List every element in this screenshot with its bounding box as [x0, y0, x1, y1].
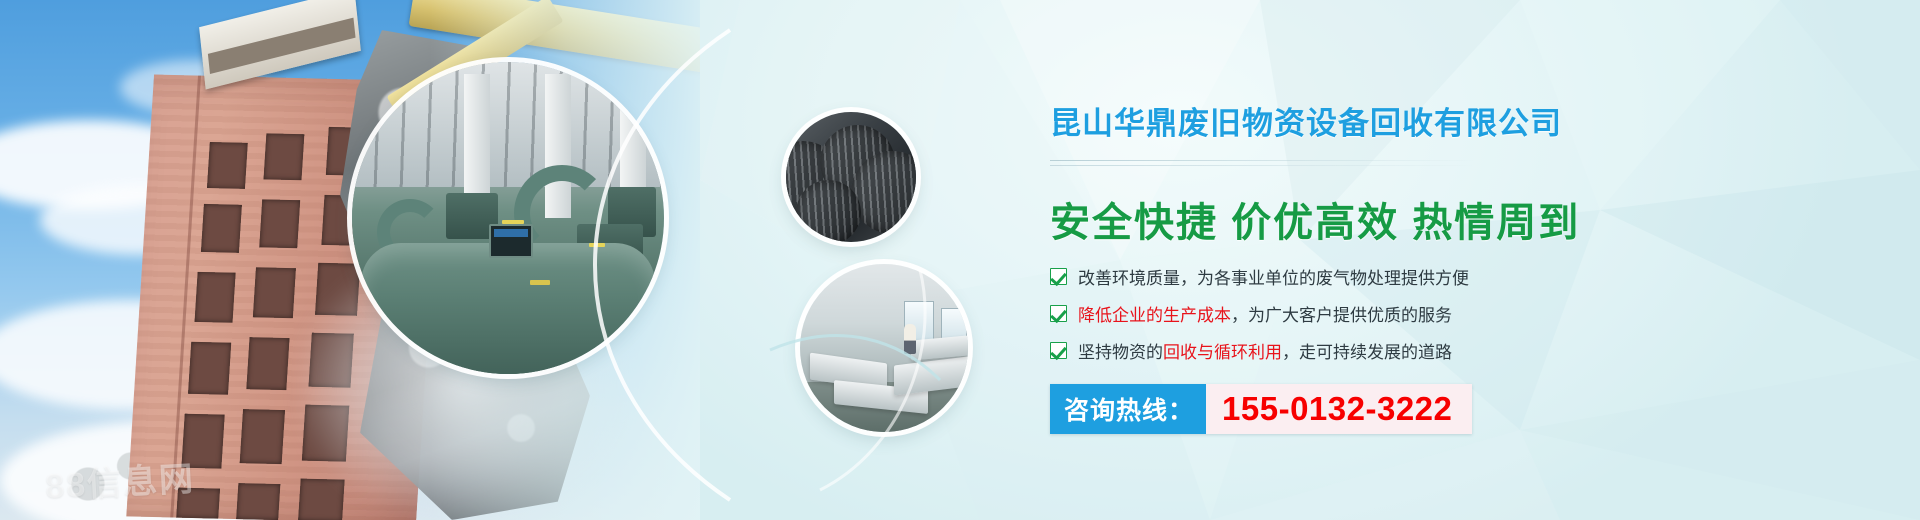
list-item: 降低企业的生产成本 ，为广大客户提供优质的服务 [1050, 295, 1610, 332]
bullet-text: 改善环境质量，为各事业单位的废气物处理提供方便 [1078, 264, 1469, 289]
feature-list: 改善环境质量，为各事业单位的废气物处理提供方便 降低企业的生产成本 ，为广大客户… [1050, 258, 1610, 369]
list-item: 改善环境质量，为各事业单位的废气物处理提供方便 [1050, 258, 1610, 295]
bullet-text: 坚持物资的 [1078, 338, 1163, 363]
factory-ceiling [352, 62, 664, 187]
label-strip [530, 280, 550, 285]
promo-banner: 88信息网 [0, 0, 1920, 520]
bullet-suffix: ，走可持续发展的道路 [1282, 338, 1452, 363]
hotline-label: 咨询热线： [1050, 384, 1206, 434]
label-strip [502, 220, 524, 224]
slogan-headline: 安全快捷 价优高效 热情周到 [1050, 190, 1580, 248]
company-name: 昆山华鼎废旧物资设备回收有限公司 [1050, 98, 1562, 143]
circle-photo-steel-coils [786, 112, 916, 242]
check-icon [1050, 268, 1067, 285]
circle-photo-chiller [352, 62, 664, 374]
text-content-column: 昆山华鼎废旧物资设备回收有限公司 安全快捷 价优高效 热情周到 改善环境质量，为… [1050, 0, 1610, 520]
hotline-bar[interactable]: 咨询热线： 155-0132-3222 [1050, 384, 1472, 434]
steel-coil [796, 180, 861, 242]
bullet-suffix: ，为广大客户提供优质的服务 [1231, 301, 1452, 326]
worker [904, 324, 916, 354]
list-item: 坚持物资的 回收与循环利用 ，走可持续发展的道路 [1050, 332, 1610, 369]
label-strip [589, 243, 605, 247]
control-panel [489, 224, 533, 258]
circle-photo-workshop [800, 264, 968, 432]
chiller-tank [361, 243, 654, 374]
hotline-number[interactable]: 155-0132-3222 [1206, 384, 1472, 434]
bullet-highlight: 回收与循环利用 [1163, 338, 1282, 363]
check-icon [1050, 342, 1067, 359]
divider [1050, 160, 1474, 166]
bullet-highlight: 降低企业的生产成本 [1078, 301, 1231, 326]
check-icon [1050, 305, 1067, 322]
